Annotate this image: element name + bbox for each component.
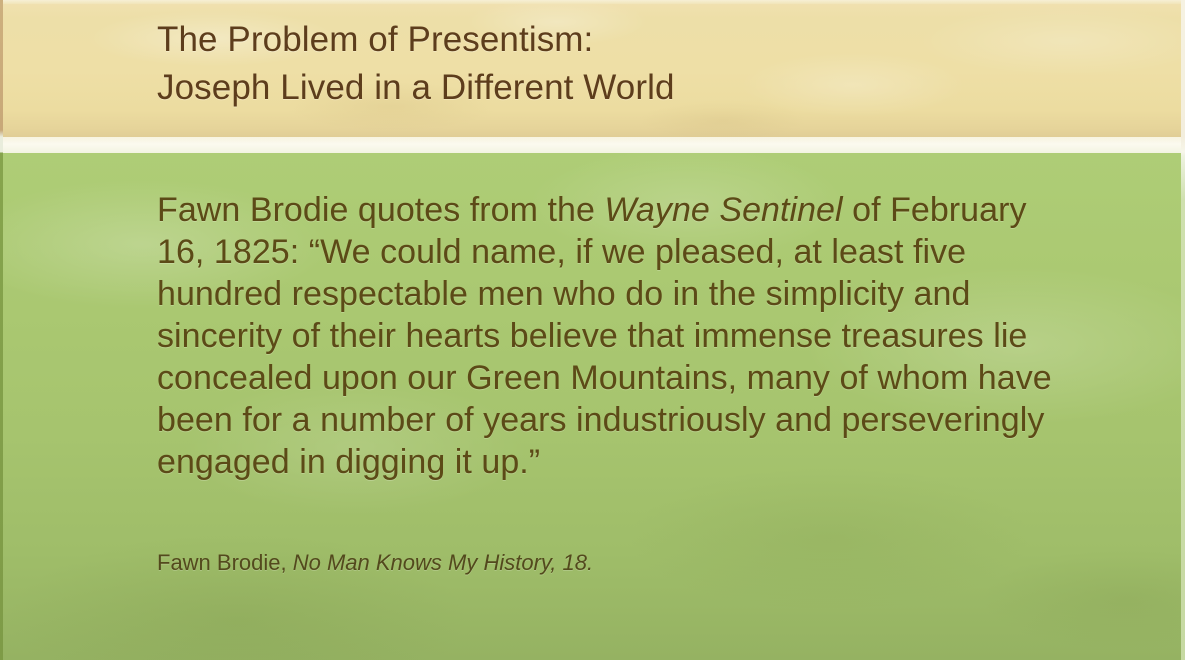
slide-body-band: Fawn Brodie quotes from the Wayne Sentin…: [0, 153, 1185, 660]
slide-title-band: The Problem of Presentism: Joseph Lived …: [0, 0, 1185, 137]
band-separator: [0, 137, 1185, 153]
quote-source-title: Wayne Sentinel: [604, 191, 842, 229]
quote-intro-text: Fawn Brodie quotes from the: [157, 191, 604, 229]
citation-line: Fawn Brodie, No Man Knows My History, 18…: [157, 549, 1057, 577]
page-title: The Problem of Presentism: Joseph Lived …: [157, 16, 1117, 112]
citation-author: Fawn Brodie,: [157, 550, 293, 575]
presentation-slide: The Problem of Presentism: Joseph Lived …: [0, 0, 1185, 660]
quote-main-text: of February 16, 1825: “We could name, if…: [157, 191, 1052, 481]
slide-top-edge: [0, 0, 1185, 4]
quote-paragraph: Fawn Brodie quotes from the Wayne Sentin…: [157, 189, 1057, 483]
citation-page-number: , 18.: [550, 550, 593, 575]
slide-right-edge: [1181, 0, 1185, 660]
citation-work-title: No Man Knows My History: [293, 550, 551, 575]
slide-left-edge: [0, 0, 3, 660]
